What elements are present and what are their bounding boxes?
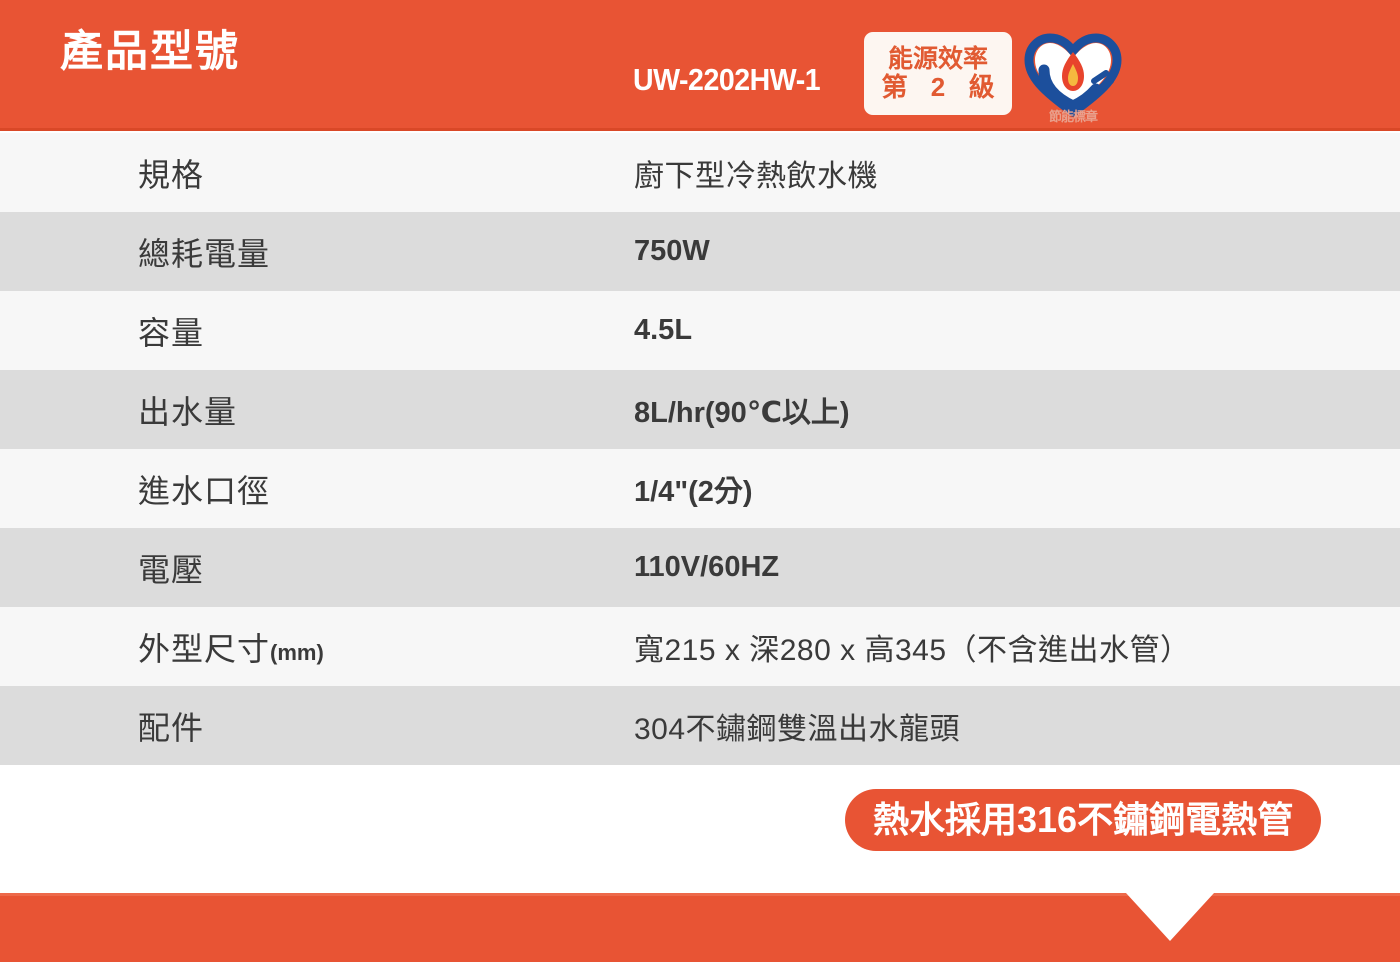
energy-badge-line2: 第 2 級 (874, 73, 1003, 102)
highlight-badge-label: 熱水採用316不鏽鋼電熱管 (873, 802, 1293, 838)
model-number: UW-2202HW-1 (633, 62, 820, 98)
spec-value: 8L/hr(90℃以上) (634, 389, 850, 431)
energy-badge-line1: 能源效率 (888, 46, 988, 73)
spec-label: 進水口徑 (138, 466, 270, 512)
spec-label: 電壓 (138, 545, 204, 591)
spec-label-text: 外型尺寸 (138, 631, 270, 667)
highlight-badge: 熱水採用316不鏽鋼電熱管 (845, 789, 1321, 851)
table-row: 容量 4.5L (0, 291, 1400, 370)
table-row: 電壓 110V/60HZ (0, 528, 1400, 607)
spec-value: 寬215 x 深280 x 高345（不含進出水管） (634, 625, 1191, 669)
spec-value: 1/4"(2分) (634, 468, 753, 510)
spec-value: 110V/60HZ (634, 551, 779, 584)
spec-label: 出水量 (138, 387, 237, 433)
spec-label: 總耗電量 (138, 229, 270, 275)
spec-label: 外型尺寸(mm) (138, 624, 324, 670)
table-row: 外型尺寸(mm) 寬215 x 深280 x 高345（不含進出水管） (0, 607, 1400, 686)
table-row: 規格 廚下型冷熱飲水機 (0, 133, 1400, 212)
table-row: 總耗電量 750W (0, 212, 1400, 291)
energy-logo-caption: 節能標章 (1022, 106, 1124, 125)
energy-efficiency-badge: 能源效率 第 2 級 (864, 32, 1012, 115)
product-spec-page: 產品型號 UW-2202HW-1 能源效率 第 2 級 節能標章 (0, 0, 1400, 962)
spec-label: 規格 (138, 150, 204, 196)
spec-value: 750W (634, 235, 710, 268)
spec-label: 容量 (138, 308, 204, 354)
spec-value: 廚下型冷熱飲水機 (634, 151, 878, 195)
table-row: 進水口徑 1/4"(2分) (0, 449, 1400, 528)
energy-label-logo: 節能標章 (1022, 26, 1124, 126)
spec-label: 配件 (138, 703, 204, 749)
header-bar: 產品型號 UW-2202HW-1 能源效率 第 2 級 節能標章 (0, 0, 1400, 131)
spec-value: 4.5L (634, 314, 692, 347)
spec-label-unit: (mm) (270, 640, 324, 665)
page-title: 產品型號 (60, 28, 240, 77)
table-row: 配件 304不鏽鋼雙溫出水龍頭 (0, 686, 1400, 765)
spec-value: 304不鏽鋼雙溫出水龍頭 (634, 704, 960, 748)
spec-table: 規格 廚下型冷熱飲水機 總耗電量 750W 容量 4.5L 出水量 8L/hr(… (0, 133, 1400, 765)
table-row: 出水量 8L/hr(90℃以上) (0, 370, 1400, 449)
